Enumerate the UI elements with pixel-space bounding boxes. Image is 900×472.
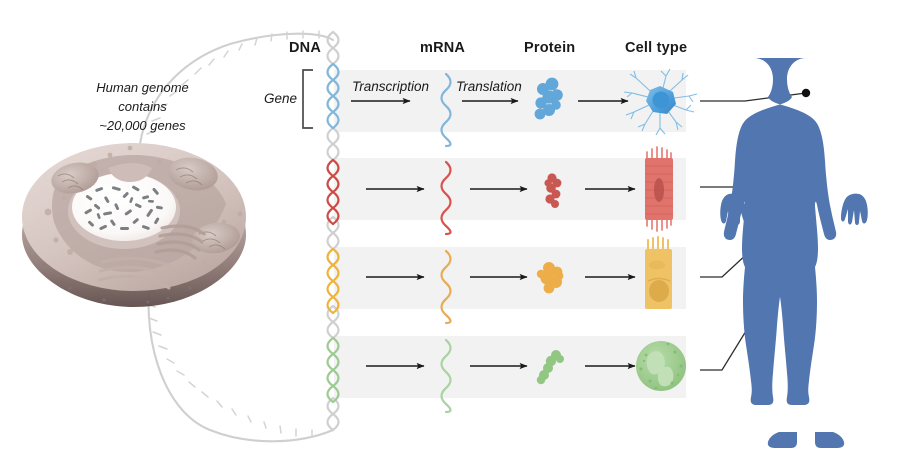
diagram-illustration xyxy=(0,0,900,472)
column-header-mrna: mRNA xyxy=(420,40,465,56)
column-header-cell-type: Cell type xyxy=(625,40,687,56)
marker-head xyxy=(802,89,810,97)
column-header-protein: Protein xyxy=(524,40,575,56)
muscle-cell xyxy=(645,147,673,231)
row-band-3 xyxy=(334,247,686,309)
process-label-transcription: Transcription xyxy=(352,79,429,94)
process-label-translation: Translation xyxy=(456,79,522,94)
animal-cell-cutaway xyxy=(22,143,246,307)
gene-label: Gene xyxy=(264,91,297,106)
row-band-4 xyxy=(334,336,686,398)
column-header-dna: DNA xyxy=(289,40,321,56)
genome-note: Human genome contains ~20,000 genes xyxy=(60,79,225,136)
human-body-silhouette xyxy=(720,58,868,448)
figure-canvas: DNA mRNA Protein Cell type Transcription… xyxy=(0,0,900,472)
gene-bracket xyxy=(303,70,313,128)
row-bands xyxy=(334,70,686,398)
immune-cell xyxy=(636,341,686,391)
